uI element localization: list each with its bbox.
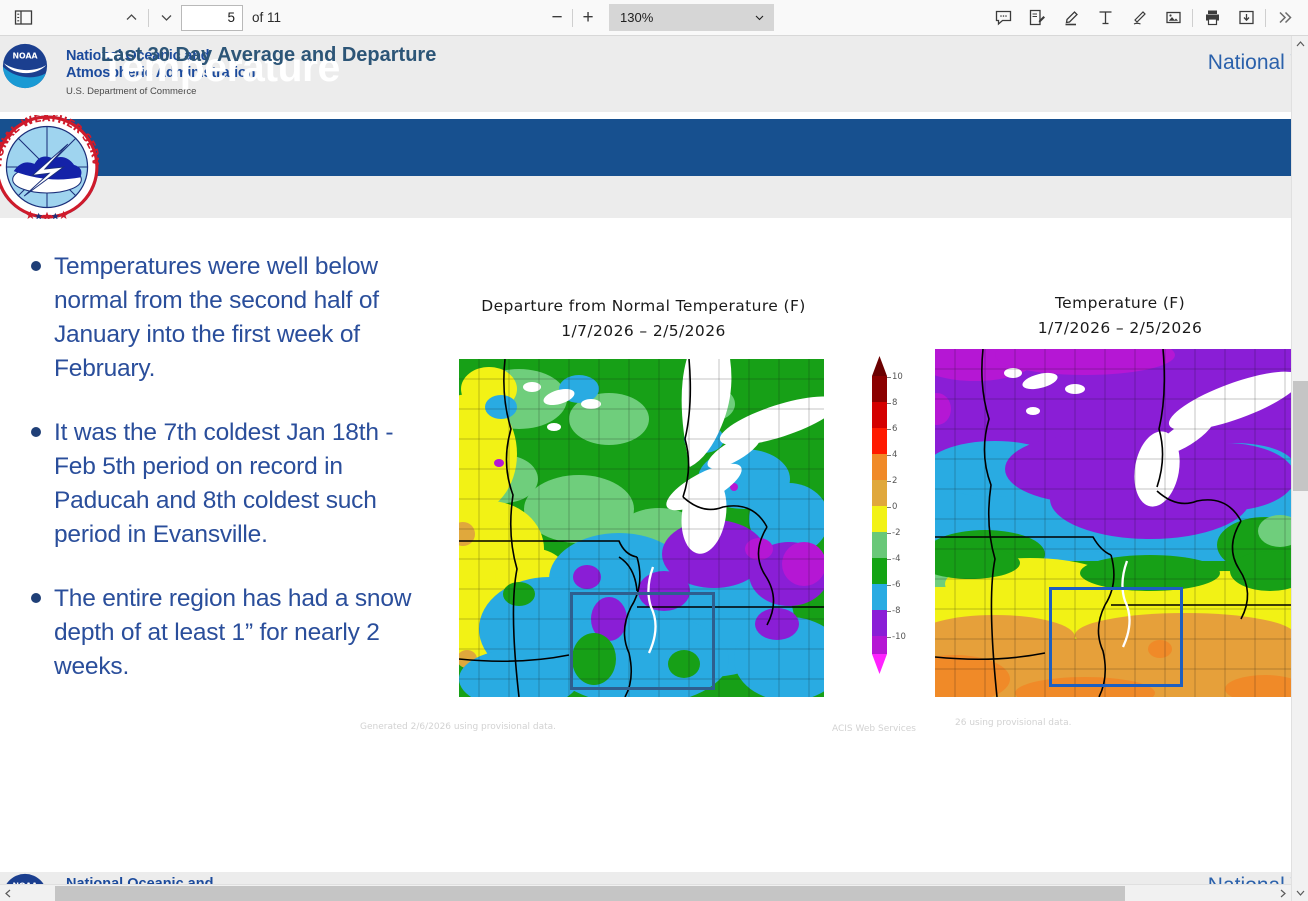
forecast-area-highlight-box (570, 592, 715, 690)
colorbar-tick-n4: -4 (892, 554, 900, 564)
next-page-button[interactable] (151, 4, 181, 32)
departure-from-normal-map[interactable] (459, 359, 824, 697)
comment-icon[interactable] (986, 4, 1020, 32)
slide-subtitle-band (0, 176, 1291, 218)
temperature-map-title: Temperature (F) 1/7/2026 – 2/5/2026 (960, 291, 1280, 341)
zoom-out-button[interactable]: − (544, 5, 570, 31)
scroll-left-button[interactable] (0, 885, 17, 901)
annotation-tools (986, 4, 1308, 32)
scroll-right-button[interactable] (1274, 885, 1291, 901)
slide-title-band (0, 119, 1291, 176)
forecast-area-highlight-box (1049, 587, 1183, 687)
page-subtitle: Last 30 Day Average and Departure (101, 44, 436, 67)
vertical-scrollbar-thumb[interactable] (1293, 381, 1308, 491)
average-temperature-map[interactable] (935, 349, 1291, 697)
previous-page-button[interactable] (116, 4, 146, 32)
colorbar-tick-n2: -2 (892, 528, 900, 538)
toolbar-divider (1265, 9, 1266, 27)
page-total-label: of 11 (252, 10, 281, 25)
print-icon[interactable] (1195, 4, 1229, 32)
colorbar-tick-0: 0 (892, 502, 897, 512)
colorbar-tick-4: 4 (892, 450, 897, 460)
bullet-dot-icon (18, 416, 54, 552)
zoom-level-select[interactable]: 130% (609, 4, 774, 31)
pdf-toolbar: of 11 − + 130% (0, 0, 1308, 36)
departure-map-subtitle-line: 1/7/2026 – 2/5/2026 (441, 319, 846, 344)
colorbar-tick-n6: -6 (892, 580, 900, 590)
page-number-input[interactable] (181, 5, 243, 31)
nws-logo: NATIONAL WEATHER SERVICE (0, 115, 99, 219)
bullet-text: The entire region has had a snow depth o… (54, 582, 418, 684)
zoom-in-button[interactable]: + (575, 5, 601, 31)
temperature-map-attribution-right: 26 using provisional data. (955, 718, 1071, 728)
colorbar-tick-2: 2 (892, 476, 897, 486)
bullet-text: It was the 7th coldest Jan 18th - Feb 5t… (54, 416, 418, 552)
scroll-up-button[interactable] (1292, 36, 1308, 53)
list-item: The entire region has had a snow depth o… (18, 582, 418, 684)
bullet-dot-icon (18, 250, 54, 386)
temperature-map-title-line: Temperature (F) (960, 291, 1280, 316)
list-item: Temperatures were well below normal from… (18, 250, 418, 386)
pdf-document-area[interactable]: NOAA National Oceanic and Atmospheric Ad… (0, 36, 1308, 901)
save-icon[interactable] (1229, 4, 1263, 32)
list-item: It was the 7th coldest Jan 18th - Feb 5t… (18, 416, 418, 552)
colorbar-tick-8: 8 (892, 398, 897, 408)
departure-map-attribution: Generated 2/6/2026 using provisional dat… (360, 722, 556, 732)
departure-map-title-line: Departure from Normal Temperature (F) (441, 294, 846, 319)
draw-icon[interactable] (1122, 4, 1156, 32)
page-navigation: of 11 (116, 4, 281, 32)
more-icon[interactable] (1268, 4, 1302, 32)
highlighter-icon[interactable] (1054, 4, 1088, 32)
departure-map-title: Departure from Normal Temperature (F) 1/… (441, 294, 846, 344)
horizontal-scrollbar[interactable] (0, 884, 1291, 901)
toolbar-divider (148, 9, 149, 27)
scroll-down-button[interactable] (1292, 884, 1308, 901)
temperature-map-attribution-left: ACIS Web Services (832, 724, 916, 734)
pdf-page-5: NOAA National Oceanic and Atmospheric Ad… (0, 36, 1291, 866)
temperature-map-subtitle-line: 1/7/2026 – 2/5/2026 (960, 316, 1280, 341)
zoom-controls: − + 130% (544, 4, 774, 31)
colorbar-tick-n8: -8 (892, 606, 900, 616)
noaa-logo: NOAA (2, 43, 48, 89)
chevron-down-icon (754, 12, 765, 23)
horizontal-scrollbar-thumb[interactable] (55, 886, 1125, 901)
colorbar-tick-6: 6 (892, 424, 897, 434)
zoom-level-value: 130% (620, 10, 653, 25)
colorbar-tick-n10: -10 (892, 632, 906, 642)
toolbar-divider (572, 9, 573, 27)
image-icon[interactable] (1156, 4, 1190, 32)
text-icon[interactable] (1088, 4, 1122, 32)
temperature-colorbar: 10 8 6 4 2 0 -2 -4 -6 -8 -10 (866, 354, 912, 676)
bullet-list: Temperatures were well below normal from… (18, 250, 418, 714)
bullet-text: Temperatures were well below normal from… (54, 250, 418, 386)
colorbar-tick-10: 10 (892, 372, 903, 382)
sidebar-toggle-icon[interactable] (8, 4, 38, 32)
toolbar-divider (1192, 9, 1193, 27)
svg-text:NOAA: NOAA (12, 52, 38, 61)
bullet-dot-icon (18, 582, 54, 684)
vertical-scrollbar[interactable] (1291, 36, 1308, 901)
draw-edit-icon[interactable] (1020, 4, 1054, 32)
